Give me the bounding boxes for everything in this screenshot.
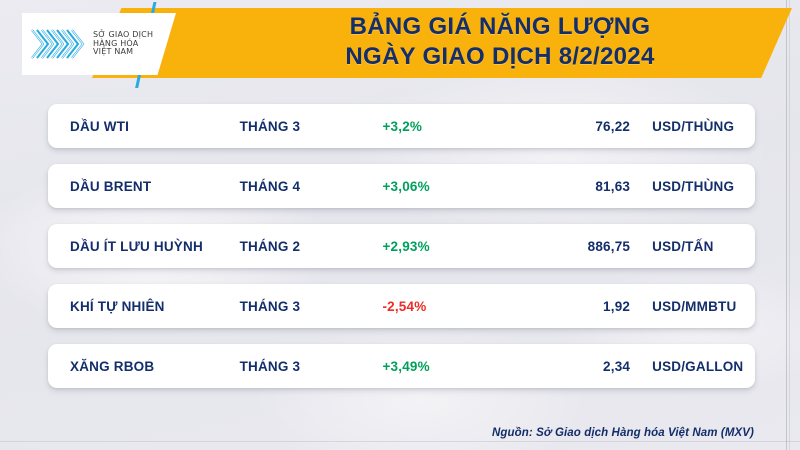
price-value: 81,63 — [525, 179, 630, 194]
table-row[interactable]: KHÍ TỰ NHIÊNTHÁNG 3-2,54%1,92USD/MMBTU — [48, 284, 755, 328]
table-row[interactable]: XĂNG RBOBTHÁNG 3+3,49%2,34USD/GALLON — [48, 344, 755, 388]
commodity-name: DẦU ÍT LƯU HUỲNH — [48, 239, 240, 254]
source-note: Nguồn: Sở Giao dịch Hàng hóa Việt Nam (M… — [492, 427, 754, 439]
contract-month: THÁNG 4 — [240, 179, 383, 194]
contract-month: THÁNG 3 — [240, 119, 383, 134]
commodity-name: DẦU WTI — [48, 119, 240, 134]
price-value: 886,75 — [525, 239, 630, 254]
price-unit: USD/THÙNG — [630, 119, 755, 134]
commodity-name: KHÍ TỰ NHIÊN — [48, 299, 240, 314]
change-percent: -2,54% — [382, 299, 525, 314]
price-table: DẦU WTITHÁNG 3+3,2%76,22USD/THÙNGDẦU BRE… — [48, 104, 755, 404]
table-row[interactable]: DẦU ÍT LƯU HUỲNHTHÁNG 2+2,93%886,75USD/T… — [48, 224, 755, 268]
price-unit: USD/MMBTU — [630, 299, 755, 314]
page-title-line1: BẢNG GIÁ NĂNG LƯỢNG — [250, 12, 750, 42]
logo-text: SỞ GIAO DỊCH HÀNG HÓA VIỆT NAM — [93, 31, 153, 58]
page-title: BẢNG GIÁ NĂNG LƯỢNG NGÀY GIAO DỊCH 8/2/2… — [250, 12, 750, 72]
change-percent: +3,06% — [382, 179, 525, 194]
contract-month: THÁNG 3 — [240, 359, 383, 374]
price-unit: USD/GALLON — [630, 359, 755, 374]
mxv-chevron-logo-icon — [30, 25, 86, 63]
price-unit: USD/THÙNG — [630, 179, 755, 194]
commodity-name: XĂNG RBOB — [48, 359, 240, 374]
price-value: 1,92 — [525, 299, 630, 314]
change-percent: +3,49% — [382, 359, 525, 374]
logo-card: SỞ GIAO DỊCH HÀNG HÓA VIỆT NAM — [22, 13, 176, 75]
logo-text-line3: VIỆT NAM — [93, 48, 153, 57]
energy-price-board: SỞ GIAO DỊCH HÀNG HÓA VIỆT NAM BẢNG GIÁ … — [0, 0, 800, 450]
commodity-name: DẦU BRENT — [48, 179, 240, 194]
contract-month: THÁNG 3 — [240, 299, 383, 314]
price-value: 2,34 — [525, 359, 630, 374]
change-percent: +3,2% — [382, 119, 525, 134]
page-title-line2: NGÀY GIAO DỊCH 8/2/2024 — [250, 42, 750, 72]
price-value: 76,22 — [525, 119, 630, 134]
change-percent: +2,93% — [382, 239, 525, 254]
table-row[interactable]: DẦU BRENTTHÁNG 4+3,06%81,63USD/THÙNG — [48, 164, 755, 208]
price-unit: USD/TẤN — [630, 239, 755, 254]
contract-month: THÁNG 2 — [240, 239, 383, 254]
table-row[interactable]: DẦU WTITHÁNG 3+3,2%76,22USD/THÙNG — [48, 104, 755, 148]
page-header: SỞ GIAO DỊCH HÀNG HÓA VIỆT NAM BẢNG GIÁ … — [0, 0, 800, 92]
frame-line-bottom — [0, 441, 800, 442]
